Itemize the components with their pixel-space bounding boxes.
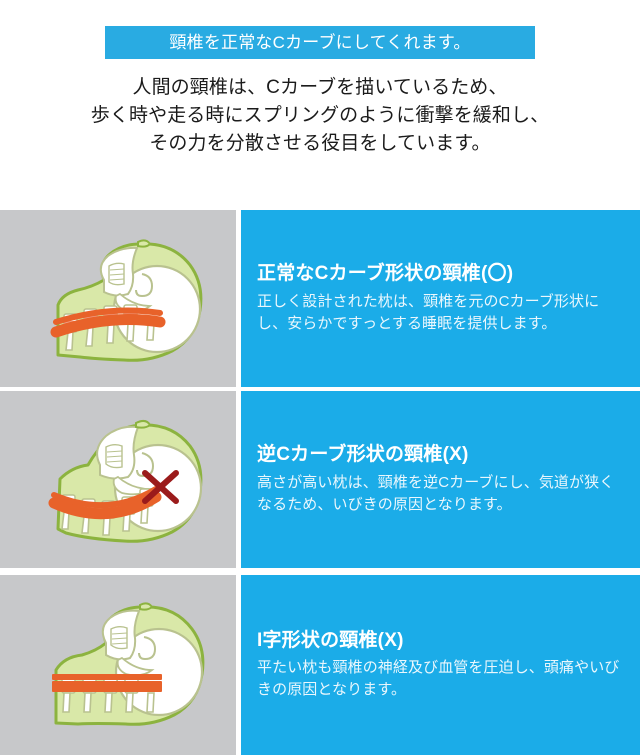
intro-line-3: その力を分散させる役目をしています。 xyxy=(0,130,640,158)
headline-banner: 頸椎を正常なCカーブにしてくれます。 xyxy=(105,26,535,59)
panel-body-straight-i-shape: I字形状の頸椎(X) 平たい枕も頸椎の神経及び血管を圧迫し、頭痛やいびきの原因と… xyxy=(241,575,640,755)
panel-body-reverse-c-curve: 逆Cカーブ形状の頸椎(X) 高さが高い枕は、頸椎を逆Cカーブにし、気道が狭くなる… xyxy=(241,391,640,568)
intro-paragraph: 人間の頸椎は、Cカーブを描いているため、 歩く時や走る時にスプリングのように衝撃… xyxy=(0,74,640,158)
comparison-panels: 正常なCカーブ形状の頸椎(〇) 正しく設計された枕は、頸椎を元のCカーブ形状にし… xyxy=(0,210,640,755)
panel-straight-i-shape: I字形状の頸椎(X) 平たい枕も頸椎の神経及び血管を圧迫し、頭痛やいびきの原因と… xyxy=(0,575,640,755)
panel-title: 逆Cカーブ形状の頸椎(X) xyxy=(257,443,624,467)
panel-title: 正常なCカーブ形状の頸椎(〇) xyxy=(257,262,624,286)
intro-line-1: 人間の頸椎は、Cカーブを描いているため、 xyxy=(0,74,640,102)
reverse-c-curve-illustration xyxy=(0,391,236,568)
panel-description: 平たい枕も頸椎の神経及び血管を圧迫し、頭痛やいびきの原因となります。 xyxy=(257,657,624,701)
panel-title: I字形状の頸椎(X) xyxy=(257,629,624,653)
header-section: 頸椎を正常なCカーブにしてくれます。 人間の頸椎は、Cカーブを描いているため、 … xyxy=(0,0,640,205)
panel-description: 高さが高い枕は、頸椎を逆Cカーブにし、気道が狭くなるため、いびきの原因となります… xyxy=(257,472,624,516)
normal-c-curve-illustration xyxy=(0,210,236,387)
headline-banner-text: 頸椎を正常なCカーブにしてくれます。 xyxy=(169,34,470,51)
straight-spine-illustration xyxy=(0,575,236,755)
panel-reverse-c-curve: 逆Cカーブ形状の頸椎(X) 高さが高い枕は、頸椎を逆Cカーブにし、気道が狭くなる… xyxy=(0,391,640,568)
panel-body-normal-c-curve: 正常なCカーブ形状の頸椎(〇) 正しく設計された枕は、頸椎を元のCカーブ形状にし… xyxy=(241,210,640,387)
intro-line-2: 歩く時や走る時にスプリングのように衝撃を緩和し、 xyxy=(0,102,640,130)
panel-description: 正しく設計された枕は、頸椎を元のCカーブ形状にし、安らかですっとする睡眠を提供し… xyxy=(257,291,624,335)
panel-normal-c-curve: 正常なCカーブ形状の頸椎(〇) 正しく設計された枕は、頸椎を元のCカーブ形状にし… xyxy=(0,210,640,387)
infographic-page: 頸椎を正常なCカーブにしてくれます。 人間の頸椎は、Cカーブを描いているため、 … xyxy=(0,0,640,755)
